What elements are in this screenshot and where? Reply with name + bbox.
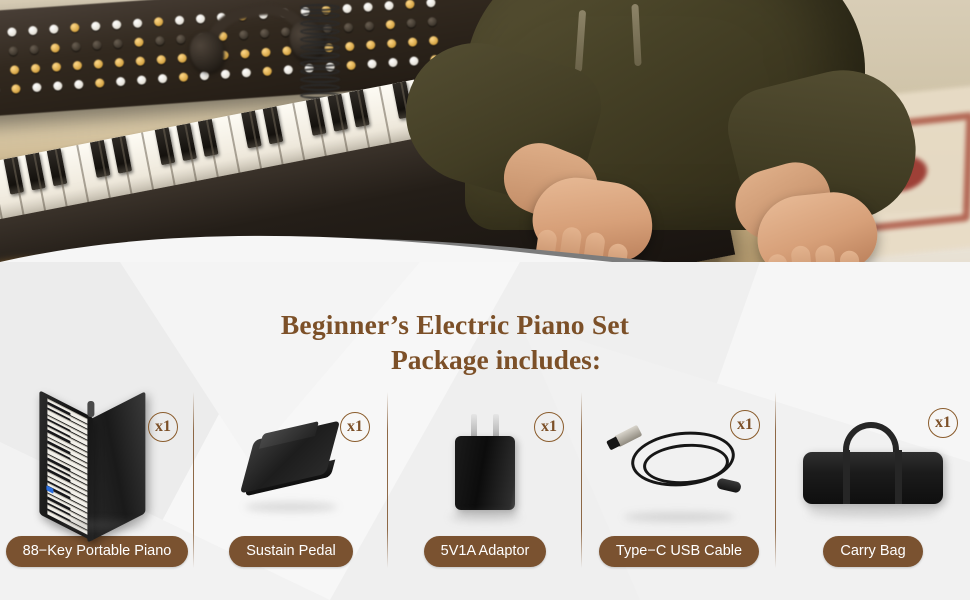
power-adaptor-icon — [449, 412, 521, 516]
console-knob — [154, 17, 164, 27]
console-knob — [366, 40, 376, 50]
console-knob — [176, 34, 186, 44]
cable-coil-ring — [300, 12, 340, 19]
headline-line-2: Package includes: — [0, 343, 910, 378]
package-contents-panel: Beginner’s Electric Piano Set Package in… — [0, 262, 970, 600]
bag-strap-right — [895, 450, 902, 504]
piano-white-key — [292, 103, 305, 164]
console-knob — [346, 61, 356, 71]
console-knob — [49, 24, 59, 34]
console-knob — [52, 62, 62, 72]
piano-white-key — [227, 116, 240, 177]
quantity-badge: x1 — [928, 408, 958, 438]
cable-coil-ring — [300, 60, 340, 67]
package-item-bag[interactable]: x1 Carry Bag — [776, 400, 970, 600]
package-item-pedal[interactable]: x1 Sustain Pedal — [194, 400, 388, 600]
console-knob — [50, 43, 60, 53]
console-knob — [137, 75, 147, 85]
product-shadow — [808, 508, 938, 518]
item-label-pill: Carry Bag — [823, 536, 922, 567]
console-knob — [158, 74, 168, 84]
console-knob — [384, 1, 394, 11]
cable-coil-ring — [300, 28, 340, 35]
console-knob — [365, 21, 375, 31]
piano-white-key — [141, 132, 154, 193]
package-item-piano[interactable]: x1 88−Key Portable Piano — [0, 400, 194, 600]
console-knob — [74, 80, 84, 90]
bag-product-stage: x1 — [776, 400, 970, 528]
adaptor-body — [455, 436, 515, 510]
console-knob — [29, 45, 39, 55]
quantity-badge: x1 — [534, 412, 564, 442]
console-knob — [95, 78, 105, 88]
console-knob — [133, 18, 143, 28]
console-knob — [28, 26, 38, 36]
bag-body — [803, 452, 943, 504]
bag-handle — [843, 422, 899, 456]
quantity-badge: x1 — [730, 410, 760, 440]
console-knob — [134, 37, 144, 47]
console-knob — [31, 64, 41, 74]
console-knob — [367, 59, 377, 69]
piano-keys — [43, 396, 89, 535]
cable-coil-ring — [300, 68, 340, 75]
console-knob — [344, 23, 354, 33]
cable-coil-ring — [300, 52, 340, 59]
cable-coil-ring — [300, 36, 340, 43]
console-knob — [342, 4, 352, 14]
piano-hinge — [87, 401, 94, 417]
console-knob — [91, 21, 101, 31]
console-knob — [32, 83, 42, 93]
cable-coil-ring — [300, 20, 340, 27]
console-knob — [388, 58, 398, 68]
console-knob — [115, 58, 125, 68]
product-shadow — [245, 502, 337, 512]
cable-product-stage: x1 — [582, 400, 776, 528]
console-knob — [200, 71, 210, 81]
package-item-cable[interactable]: x1 Type−C USB Cable — [582, 400, 776, 600]
console-knob — [92, 40, 102, 50]
console-knob — [53, 81, 63, 91]
usb-cable-icon — [609, 418, 749, 510]
product-shadow — [624, 512, 734, 522]
cable-coil-ring — [300, 84, 340, 91]
piano-white-key — [379, 86, 392, 147]
console-knob — [345, 42, 355, 52]
piano-white-key — [76, 145, 89, 206]
bag-strap-left — [843, 450, 850, 504]
cable-coil-ring — [300, 44, 340, 51]
console-knob — [135, 56, 145, 66]
piano-white-key — [0, 162, 3, 223]
adaptor-product-stage: x1 — [388, 400, 582, 528]
console-knob — [179, 72, 189, 82]
cable-coil-ring — [300, 4, 340, 11]
console-knob — [73, 61, 83, 71]
cable-coil-ring — [300, 76, 340, 83]
console-knob — [7, 27, 17, 37]
piano-product-stage: x1 — [0, 400, 194, 528]
product-feature-banner: Beginner’s Electric Piano Set Package in… — [0, 0, 970, 600]
headline-line-1: Beginner’s Electric Piano Set — [0, 308, 910, 343]
pedal-product-stage: x1 — [194, 400, 388, 528]
folding-piano-icon — [29, 404, 159, 528]
quantity-badge: x1 — [340, 412, 370, 442]
usb-a-connector — [614, 425, 643, 447]
console-knob — [112, 20, 122, 30]
console-knob — [386, 20, 396, 30]
quantity-badge: x1 — [148, 412, 178, 442]
item-label-pill: 5V1A Adaptor — [424, 536, 547, 567]
headline-block: Beginner’s Electric Piano Set Package in… — [0, 308, 970, 377]
console-knob — [113, 39, 123, 49]
item-label-pill: Type−C USB Cable — [599, 536, 759, 567]
item-label-pill: 88−Key Portable Piano — [6, 536, 189, 567]
console-knob — [363, 2, 373, 12]
console-knob — [156, 55, 166, 65]
hero-photo — [0, 0, 970, 300]
console-knob — [71, 42, 81, 52]
console-knob — [387, 39, 397, 49]
package-items-row: x1 88−Key Portable Piano x1 Sustain Peda… — [0, 400, 970, 600]
console-knob — [175, 16, 185, 26]
console-knob — [11, 84, 21, 94]
sustain-pedal-icon — [239, 426, 343, 504]
console-knob — [177, 53, 187, 63]
type-c-connector — [716, 477, 742, 493]
carry-bag-icon — [803, 422, 943, 506]
console-knob — [10, 65, 20, 75]
product-shadow — [49, 520, 145, 530]
product-shadow — [450, 512, 520, 522]
console-knob — [94, 59, 104, 69]
package-item-adaptor[interactable]: x1 5V1A Adaptor — [388, 400, 582, 600]
item-label-pill: Sustain Pedal — [229, 536, 352, 567]
console-knob — [8, 46, 18, 56]
console-knob — [70, 23, 80, 33]
console-knob — [116, 77, 126, 87]
console-knob — [155, 36, 165, 46]
console-knob — [221, 69, 231, 79]
console-knob — [242, 68, 252, 78]
